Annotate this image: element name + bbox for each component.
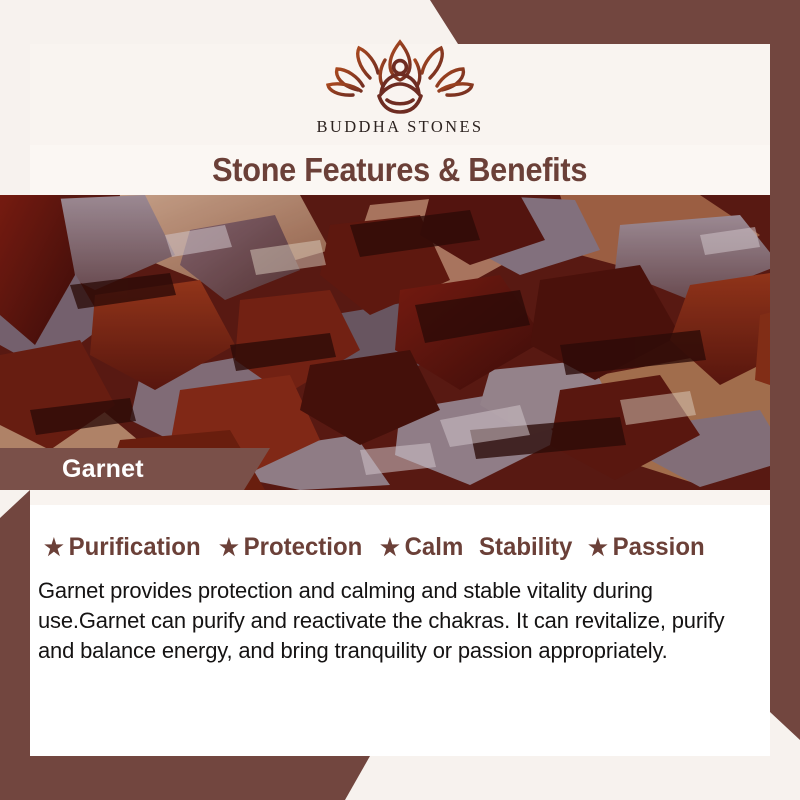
stone-name-banner: Garnet: [0, 448, 270, 490]
frame-left-bar: [0, 490, 30, 800]
page-title: Stone Features & Benefits: [212, 151, 587, 189]
star-icon: ★: [219, 536, 239, 559]
feature-item-calm: ★ Calm: [380, 533, 463, 562]
garnet-crystal-cluster-photo: [0, 195, 800, 490]
section-title-band: Stone Features & Benefits: [30, 145, 770, 195]
feature-label: Protection: [244, 533, 363, 562]
brand-logo-area: BUDDHA STONES: [30, 44, 770, 145]
stone-name: Garnet: [62, 455, 144, 484]
feature-item-stability: Stability: [479, 533, 572, 562]
feature-item-passion: ★ Passion: [588, 533, 705, 562]
feature-label: Purification: [69, 533, 201, 562]
lotus-meditation-figure-icon: [325, 38, 475, 116]
description-text: Garnet provides protection and calming a…: [38, 576, 738, 666]
stone-description: Garnet provides protection and calming a…: [38, 576, 738, 666]
brand-name: BUDDHA STONES: [316, 117, 483, 137]
feature-label: Stability: [479, 533, 572, 562]
star-icon: ★: [588, 536, 608, 559]
feature-list: ★ Purification ★ Protection ★ Calm Stabi…: [44, 527, 762, 567]
feature-item-purification: ★ Purification: [44, 533, 201, 562]
star-icon: ★: [44, 536, 64, 559]
frame-right-bar: [770, 0, 800, 740]
feature-label: Calm: [405, 533, 464, 562]
product-info-card: BUDDHA STONES Stone Features & Benefits: [0, 0, 800, 800]
feature-label: Passion: [613, 533, 705, 562]
feature-item-protection: ★ Protection: [219, 533, 362, 562]
star-icon: ★: [380, 536, 400, 559]
frame-bottom-bar: [0, 756, 800, 800]
